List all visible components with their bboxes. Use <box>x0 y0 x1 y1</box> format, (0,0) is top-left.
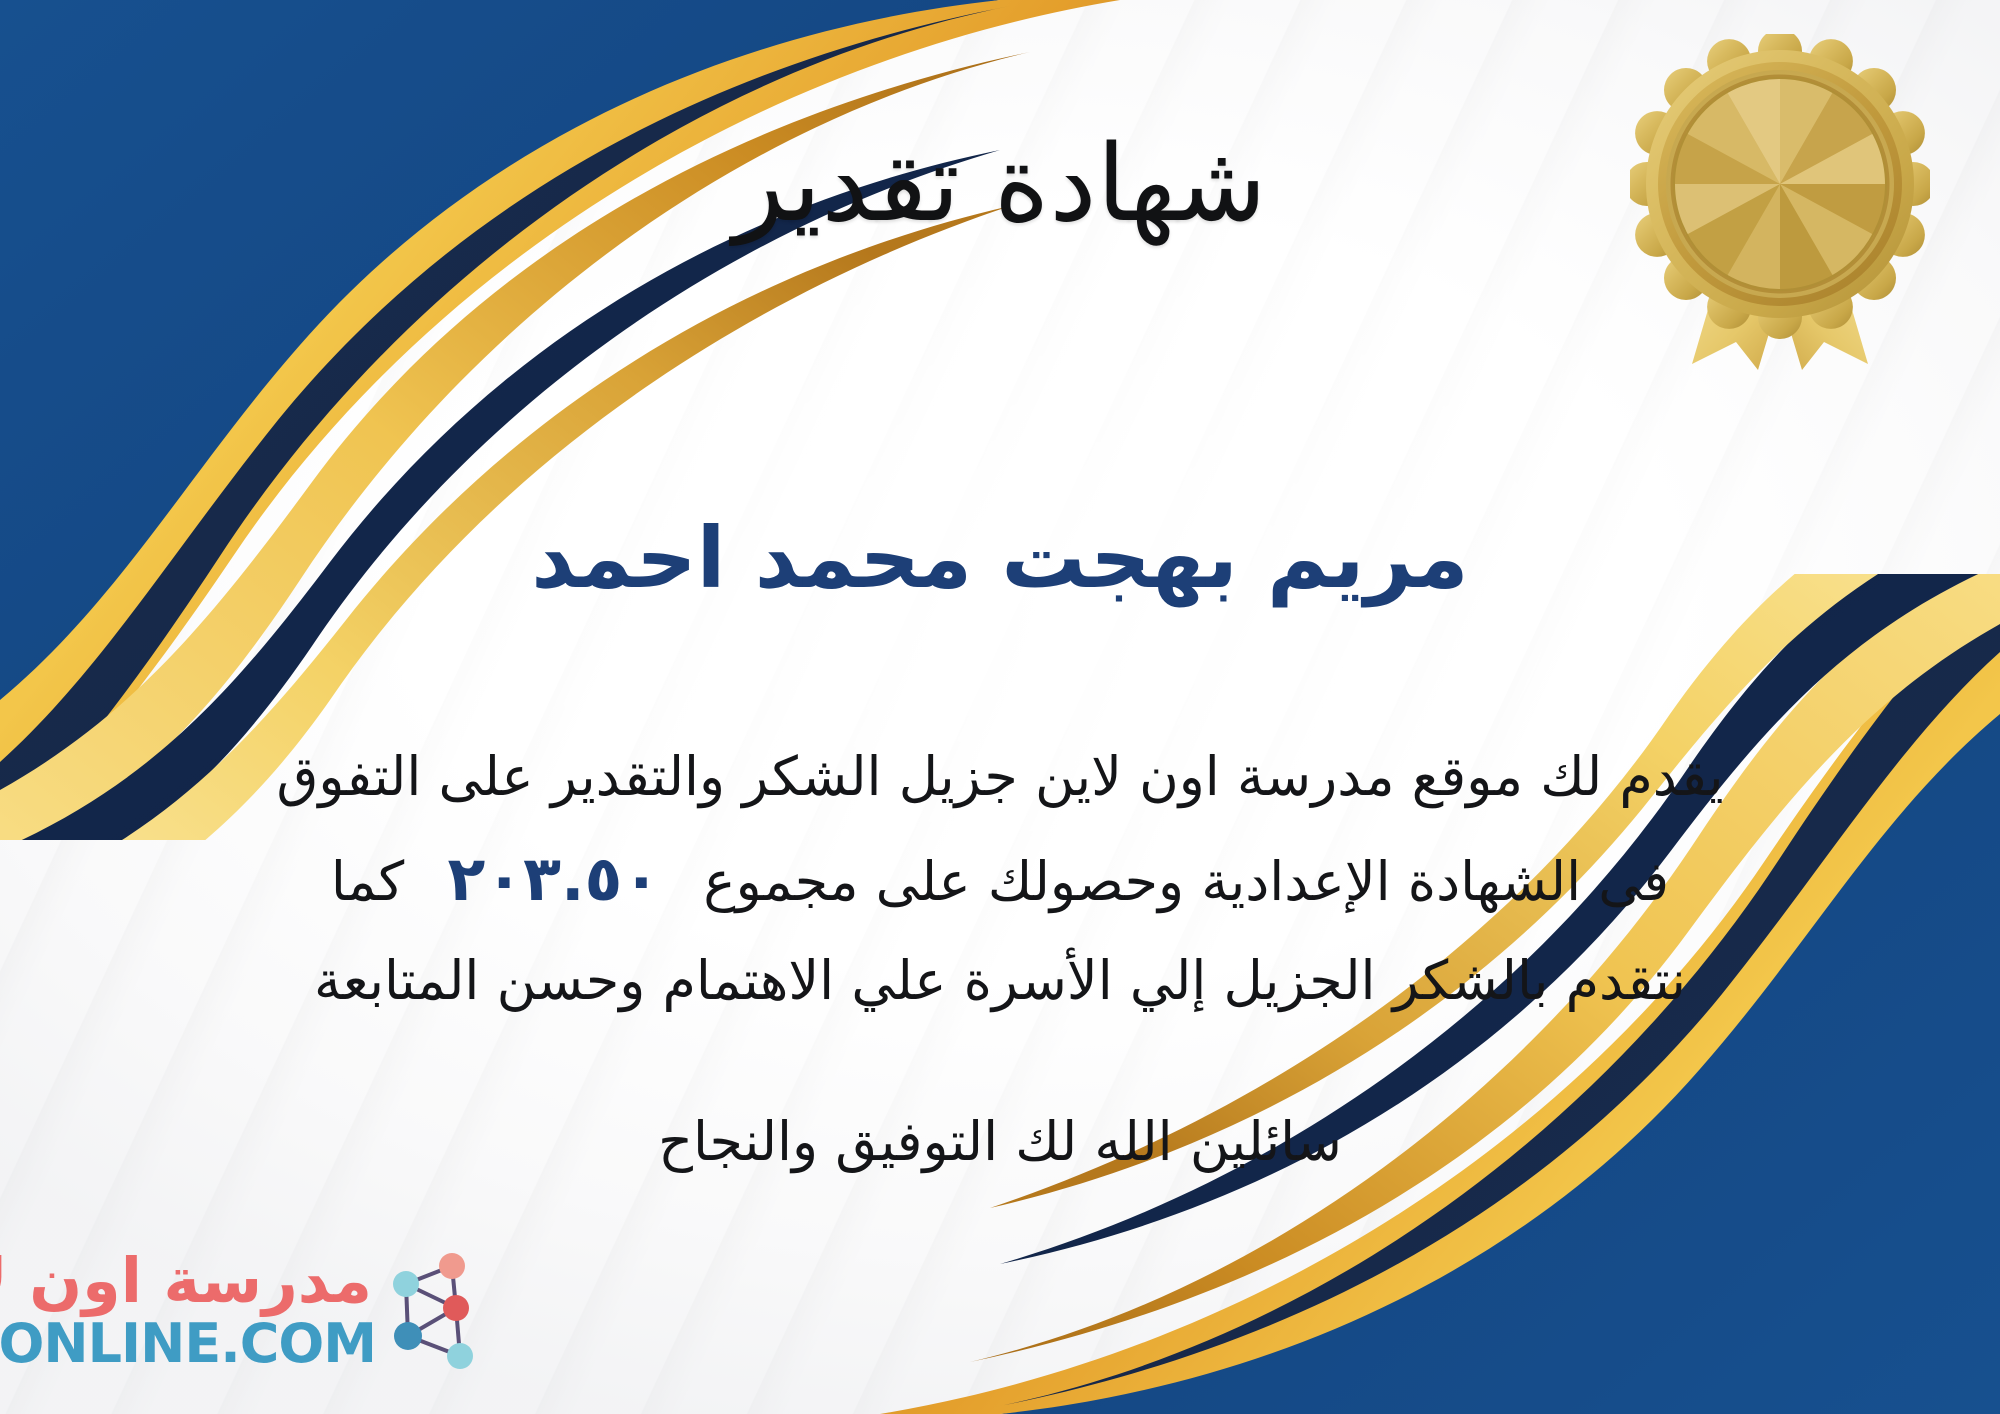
body-line-3: نتقدم بالشكر الجزيل إلي الأسرة علي الاهت… <box>60 939 1940 1023</box>
certificate-canvas: شهادة تقدير مريم بهجت محمد احمد يقدم لك … <box>0 0 2000 1414</box>
site-logo[interactable]: مدرسة اون لاين MADRSA-ONLINE.COM <box>34 1238 504 1388</box>
body-line-2-prefix: فى الشهادة الإعدادية وحصولك على مجموع <box>703 850 1669 913</box>
certificate-content: شهادة تقدير مريم بهجت محمد احمد يقدم لك … <box>0 0 2000 1414</box>
certificate-body: يقدم لك موقع مدرسة اون لاين جزيل الشكر و… <box>60 735 1940 1034</box>
logo-arabic-text: مدرسة اون لاين <box>0 1244 372 1317</box>
closing-wish-line: سائلين الله لك التوفيق والنجاح <box>0 1110 2000 1173</box>
network-nodes-icon <box>382 1248 504 1378</box>
logo-website-text: MADRSA-ONLINE.COM <box>0 1312 376 1375</box>
certificate-title: شهادة تقدير <box>0 128 2000 239</box>
body-line-2-suffix: كما <box>331 850 404 913</box>
grade-total-value: ٢٠٣.٥٠ <box>421 842 686 915</box>
body-line-2: فى الشهادة الإعدادية وحصولك على مجموع ٢٠… <box>60 831 1940 927</box>
body-line-1: يقدم لك موقع مدرسة اون لاين جزيل الشكر و… <box>60 735 1940 819</box>
recipient-name: مريم بهجت محمد احمد <box>0 512 2000 604</box>
